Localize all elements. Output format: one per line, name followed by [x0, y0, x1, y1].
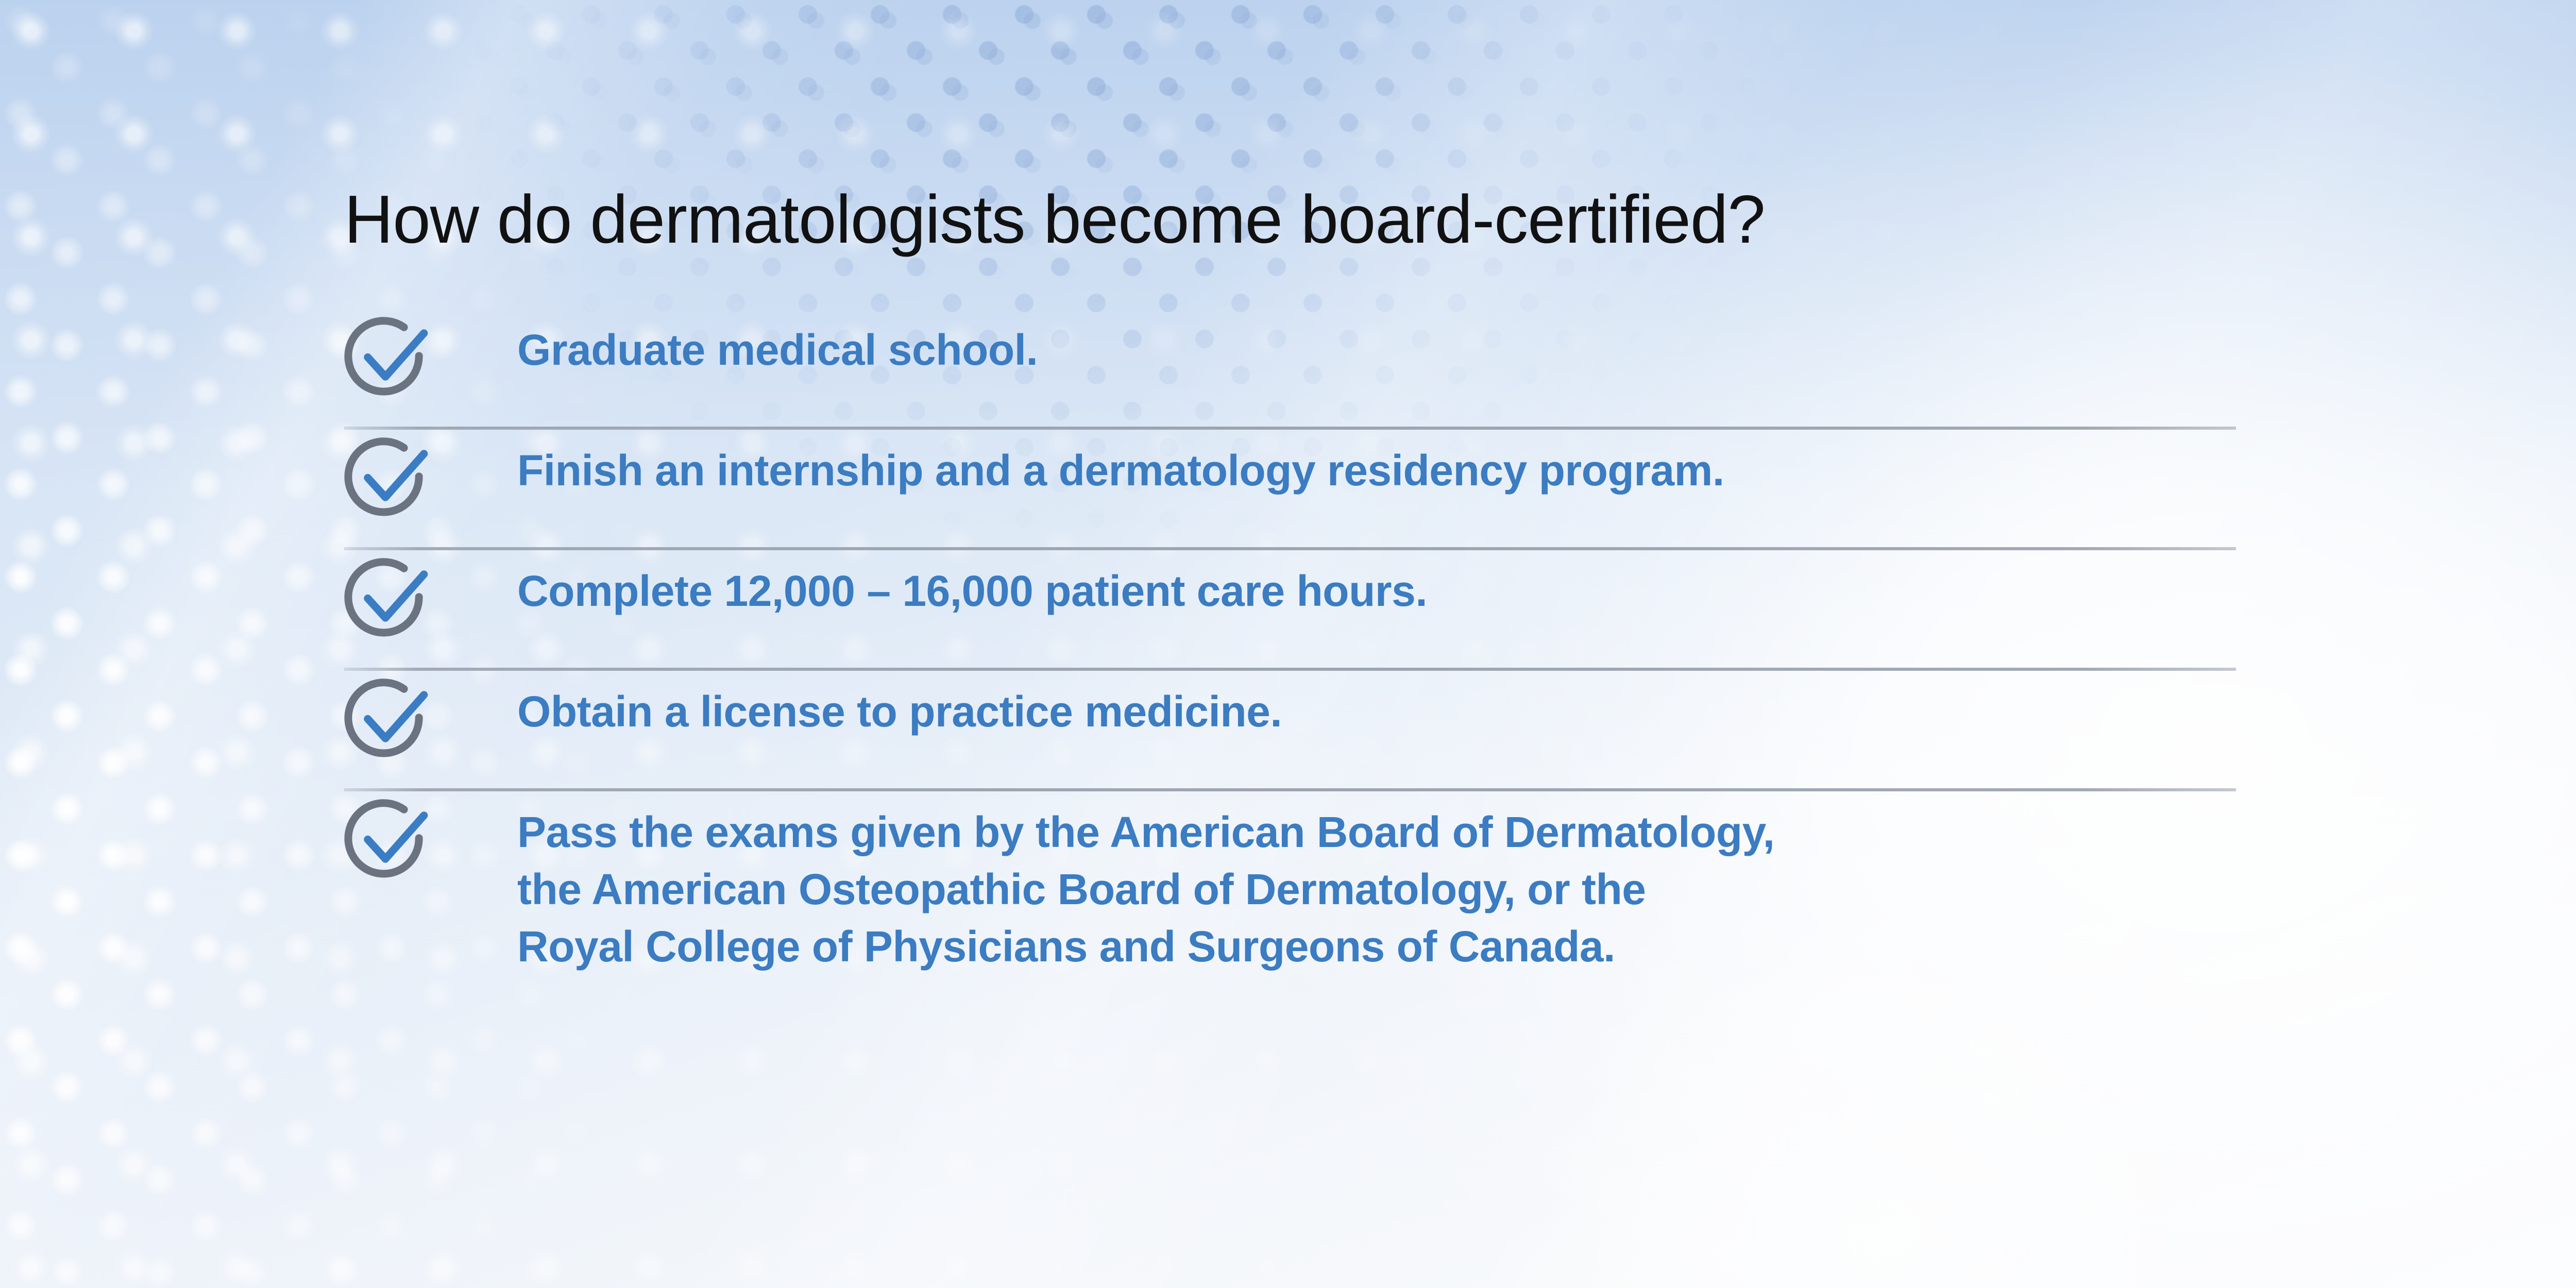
list-item: Finish an internship and a dermatology r… [344, 430, 2240, 547]
list-item: Graduate medical school. [344, 309, 2240, 427]
check-circle-icon [344, 554, 435, 645]
list-item: Pass the exams given by the American Boa… [344, 791, 2240, 975]
check-circle-icon [344, 313, 435, 404]
infographic-canvas: How do dermatologists become board-certi… [0, 0, 2576, 1288]
list-item-label: Pass the exams given by the American Boa… [517, 791, 2240, 975]
list-item: Obtain a license to practice medicine. [344, 671, 2240, 788]
list-item-label: Graduate medical school. [517, 309, 2240, 379]
list-item-label: Obtain a license to practice medicine. [517, 671, 2240, 740]
list-item: Complete 12,000 – 16,000 patient care ho… [344, 550, 2240, 668]
check-circle-icon [344, 434, 435, 524]
list-item-label: Finish an internship and a dermatology r… [517, 430, 2240, 499]
checklist: Graduate medical school. Finish an inter… [344, 309, 2240, 975]
content-container: How do dermatologists become board-certi… [0, 0, 2576, 1288]
check-circle-icon [344, 675, 435, 766]
list-item-label: Complete 12,000 – 16,000 patient care ho… [517, 550, 2240, 620]
page-title: How do dermatologists become board-certi… [344, 183, 2405, 256]
check-circle-icon [344, 795, 435, 886]
